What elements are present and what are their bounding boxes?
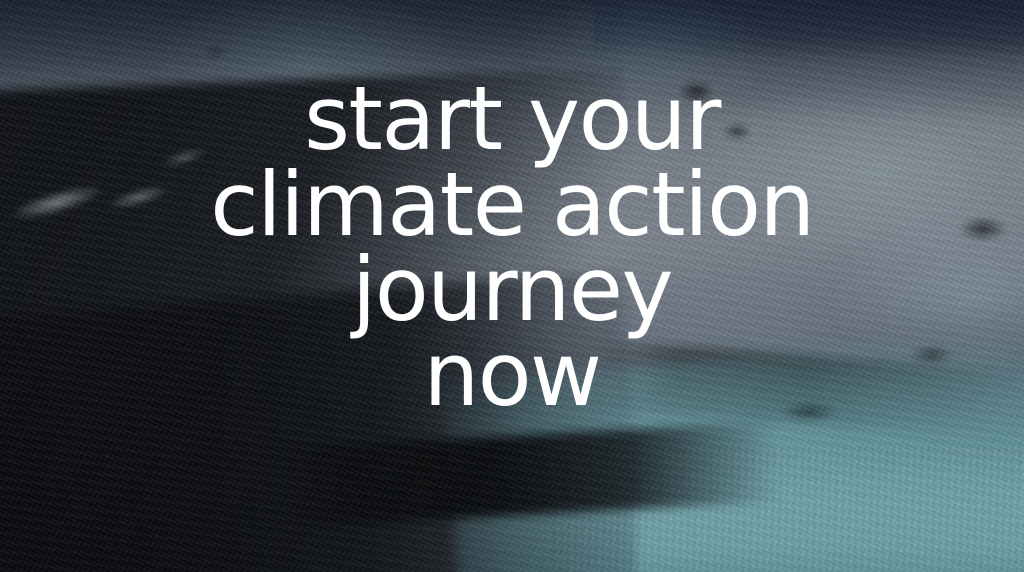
headline-line-2: climate action <box>210 162 813 247</box>
headline-overlay: start your climate action journey now <box>0 0 1024 572</box>
hero-headline: start your climate action journey now <box>210 76 813 417</box>
headline-line-4: now <box>210 332 813 417</box>
headline-line-3: journey <box>210 247 813 332</box>
headline-line-1: start your <box>210 76 813 161</box>
hero-banner: start your climate action journey now <box>0 0 1024 572</box>
